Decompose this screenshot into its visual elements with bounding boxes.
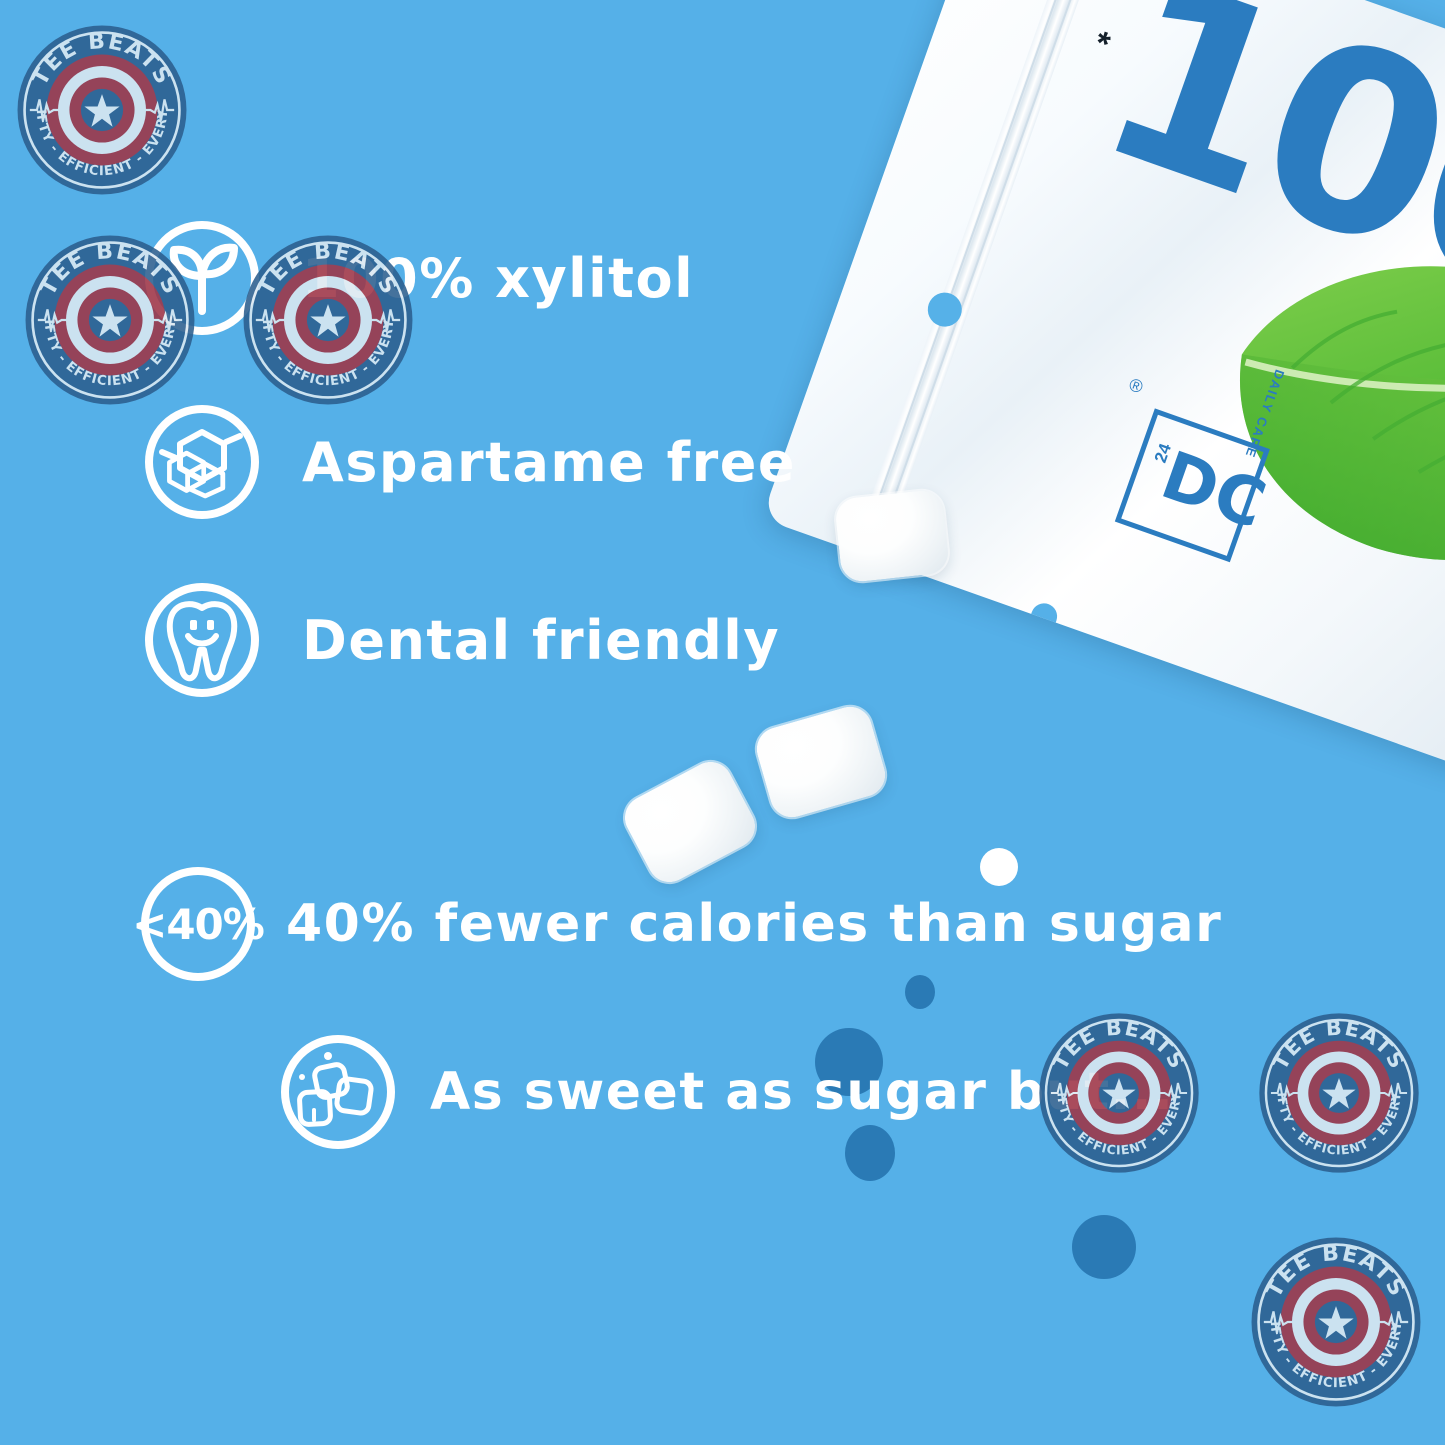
- feature-label-aspartame: Aspartame free: [302, 431, 796, 494]
- less-than-40-percent-label: <40%: [136, 862, 260, 986]
- feature-label-calories: 40% fewer calories than sugar: [286, 894, 1222, 954]
- package-asterisk: *: [1090, 26, 1114, 62]
- gum-pellet: [752, 702, 891, 823]
- dc-logo-mark: DC: [1154, 442, 1273, 539]
- dc-daily-care-logo: DC 24 DAILY CARE: [1115, 408, 1270, 562]
- dc-logo-24: 24: [1151, 441, 1176, 466]
- mint-leaf-icon: [1175, 179, 1445, 634]
- tee-beats-watermark: TEE BEATS THRIFTY - EFFICIENT - EVERYDAY: [1256, 1010, 1422, 1176]
- feature-row-calories: <40% 40% fewer calories than sugar: [136, 862, 1222, 986]
- smiling-tooth-icon: [140, 578, 264, 702]
- feature-row-aspartame: Aspartame free: [140, 400, 796, 524]
- sugar-cubes-icon: [276, 1030, 400, 1154]
- package-body: [762, 0, 1445, 772]
- decorative-dot: [1072, 1215, 1136, 1279]
- package-zip-seal: [852, 0, 1111, 560]
- tee-beats-watermark: TEE BEATS THRIFTY - EFFICIENT - EVERYDAY: [1248, 1234, 1424, 1410]
- package-100-text: 100: [1075, 0, 1445, 344]
- tee-beats-watermark: TEE BEATS THRIFTY - EFFICIENT - EVERYDAY: [1036, 1010, 1202, 1176]
- tee-beats-watermark: TEE BEATS THRIFTY - EFFICIENT - EVERYDAY: [14, 22, 190, 198]
- molecule-icon: [140, 400, 264, 524]
- tee-beats-watermark: TEE BEATS THRIFTY - EFFICIENT - EVERYDAY: [240, 232, 416, 408]
- gum-pellet: [834, 489, 950, 584]
- package-hang-hole: [923, 288, 966, 331]
- dc-logo-tagline: DAILY CARE: [1242, 368, 1287, 461]
- tee-beats-watermark: TEE BEATS THRIFTY - EFFICIENT - EVERYDAY: [22, 232, 198, 408]
- less-than-40-percent-icon: <40%: [136, 862, 260, 986]
- feature-row-dental: Dental friendly: [140, 578, 780, 702]
- feature-label-dental: Dental friendly: [302, 609, 780, 672]
- product-package: 100 % *: [762, 0, 1445, 772]
- package-percent-symbol: %: [1436, 42, 1445, 361]
- package-notch-bottom: [1031, 600, 1061, 623]
- feature-row-xylitol: 100% xylitol: [140, 216, 694, 340]
- product-feature-graphic: 100 % *: [0, 0, 1445, 1445]
- registered-trademark-icon: ®: [1126, 374, 1146, 398]
